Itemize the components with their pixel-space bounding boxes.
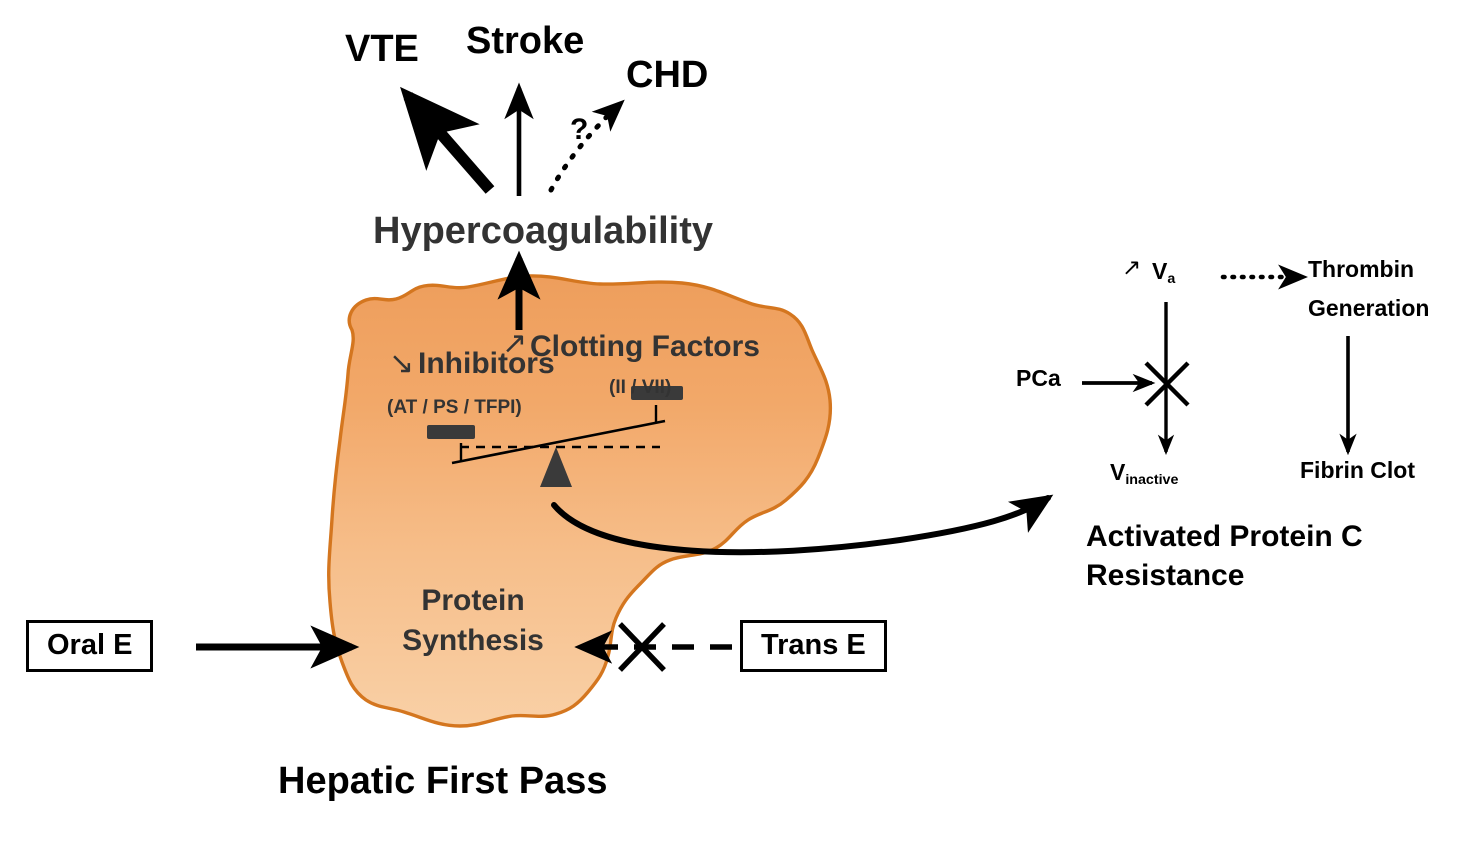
apc-resistance-heading-line2: Resistance [1086, 560, 1244, 592]
blocked-pathway-x-icon-transdermal [620, 624, 664, 670]
protein-synthesis-line2: Synthesis [368, 625, 578, 657]
page-title: Hepatic First Pass [278, 762, 607, 802]
apc-resistance-heading-line1: Activated Protein C [1086, 521, 1363, 553]
clotting-factors-detail: (II / VII) [609, 378, 671, 398]
protein-synthesis-line1: Protein [383, 585, 563, 617]
balance-pan-inhibitors [427, 425, 475, 439]
up-arrow-icon-factor-va: ↗ [1122, 255, 1141, 279]
uncertainty-question-mark: ? [570, 114, 588, 146]
outcome-label-vte: VTE [345, 30, 419, 70]
thrombin-generation-line1: Thrombin [1308, 257, 1414, 281]
outcome-label-stroke: Stroke [466, 22, 584, 62]
pca-label: PCa [1016, 366, 1061, 390]
outcome-label-chd: CHD [626, 56, 708, 96]
factor-va-subscript: a [1167, 271, 1175, 287]
thrombin-generation-line2: Generation [1308, 296, 1429, 320]
inhibitors-detail: (AT / PS / TFPI) [387, 398, 522, 418]
factor-va-symbol: V [1152, 258, 1167, 284]
hypercoagulability-label: Hypercoagulability [373, 212, 713, 252]
input-box-transdermal-estrogen[interactable]: Trans E [740, 620, 887, 672]
clotting-factors-label: Clotting Factors [530, 331, 760, 363]
diagram-graphics-layer [0, 0, 1472, 841]
hepatic-first-pass-diagram: VTE Stroke CHD ? Hypercoagulability Clot… [0, 0, 1472, 841]
factor-v-inactive-label: Vinactive [1110, 460, 1178, 488]
down-arrow-icon-inhibitors: ↘ [389, 348, 414, 380]
factor-v-inactive-symbol: V [1110, 459, 1125, 485]
fibrin-clot-label: Fibrin Clot [1300, 458, 1415, 482]
inhibitors-label: Inhibitors [418, 348, 555, 380]
arrow-hyper-to-vte [408, 96, 490, 190]
factor-v-inactive-subscript: inactive [1125, 472, 1178, 488]
input-box-oral-estrogen[interactable]: Oral E [26, 620, 153, 672]
factor-va-label: Va [1152, 259, 1175, 287]
